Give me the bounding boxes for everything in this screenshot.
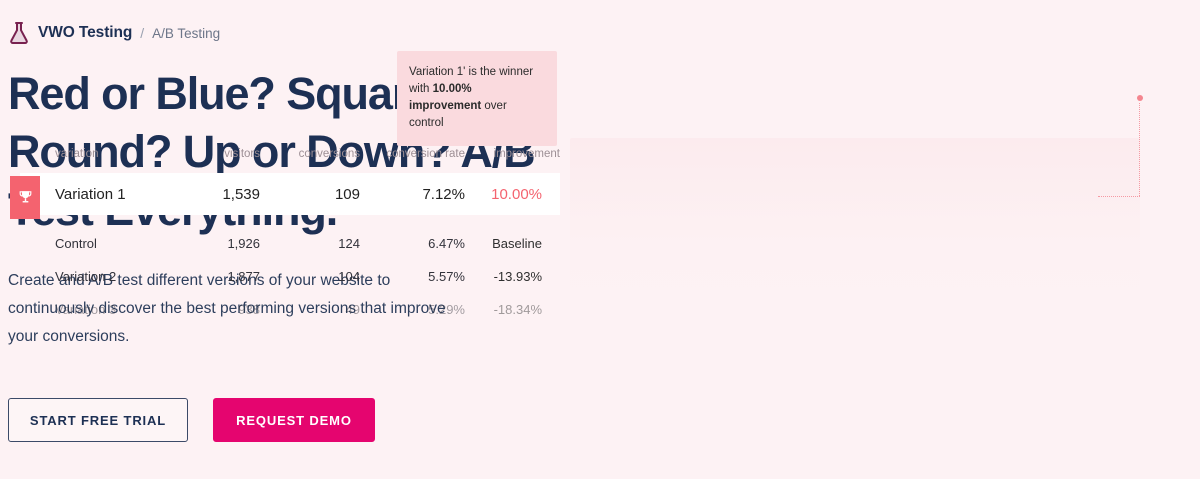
breadcrumb: VWO Testing / A/B Testing (8, 19, 568, 47)
connector-dot (1137, 95, 1143, 101)
cell-conversions: 124 (260, 227, 360, 260)
table-header-row: variation visitors conversions conversio… (20, 148, 560, 173)
cell-improvement: Baseline (465, 227, 560, 260)
flask-icon (8, 21, 30, 45)
winner-trophy-badge (10, 176, 40, 219)
cell-conversion-rate: 7.12% (360, 173, 465, 215)
cell-conversions: 49 (260, 293, 360, 326)
cell-visitors: 1,877 (170, 260, 260, 293)
cell-improvement: -18.34% (465, 293, 560, 326)
breadcrumb-current[interactable]: A/B Testing (152, 26, 220, 41)
table-spacer (20, 215, 560, 227)
cell-conversions: 104 (260, 260, 360, 293)
column-header-visitors: visitors (170, 148, 260, 173)
table-row[interactable]: Control 1,926 124 6.47% Baseline (20, 227, 560, 260)
cell-visitors: 938 (170, 293, 260, 326)
connector-horizontal-line (1098, 196, 1140, 197)
column-header-conversion-rate: conversion rate (360, 148, 465, 173)
table-row[interactable]: Variation 3 938 49 5.29% -18.34% (20, 293, 560, 326)
breadcrumb-separator: / (140, 25, 144, 41)
column-header-improvement: improvement (465, 148, 560, 173)
connector-vertical-line (1139, 103, 1140, 196)
winner-tooltip: Variation 1' is the winner with 10.00% i… (397, 51, 557, 146)
breadcrumb-brand[interactable]: VWO Testing (38, 24, 132, 42)
trophy-icon (17, 189, 34, 206)
cell-conversions: 109 (260, 173, 360, 215)
start-free-trial-button[interactable]: START FREE TRIAL (8, 398, 188, 442)
cell-variation: Control (20, 227, 170, 260)
table-row[interactable]: Variation 2 1,877 104 5.57% -13.93% (20, 260, 560, 293)
cta-button-group: START FREE TRIAL REQUEST DEMO (8, 398, 375, 442)
ab-test-results-table: variation visitors conversions conversio… (20, 148, 560, 326)
results-panel (568, 0, 1200, 479)
table-row-winner[interactable]: Variation 1 1,539 109 7.12% 10.00% (20, 173, 560, 215)
cell-visitors: 1,926 (170, 227, 260, 260)
results-panel-backdrop (570, 138, 1140, 333)
request-demo-button[interactable]: REQUEST DEMO (213, 398, 375, 442)
cell-variation: Variation 3 (20, 293, 170, 326)
cell-conversion-rate: 6.47% (360, 227, 465, 260)
cell-visitors: 1,539 (170, 173, 260, 215)
cell-variation: Variation 1 (20, 173, 170, 215)
column-header-conversions: conversions (260, 148, 360, 173)
column-header-variation: variation (20, 148, 170, 173)
cell-conversion-rate: 5.57% (360, 260, 465, 293)
cell-improvement: -13.93% (465, 260, 560, 293)
cell-variation: Variation 2 (20, 260, 170, 293)
cell-improvement: 10.00% (465, 173, 560, 215)
cell-conversion-rate: 5.29% (360, 293, 465, 326)
